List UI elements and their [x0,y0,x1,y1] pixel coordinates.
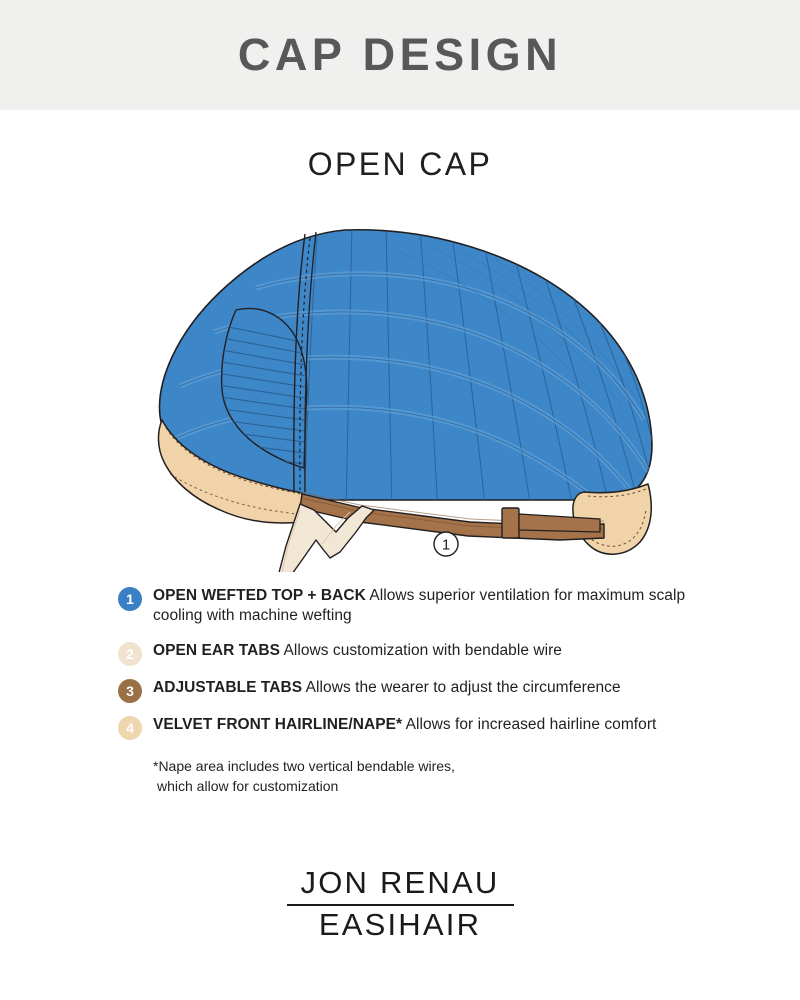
legend-badge-2: 2 [118,642,142,666]
legend-text-2: OPEN EAR TABS Allows customization with … [153,641,562,661]
legend-body-3: Allows the wearer to adjust the circumfe… [302,679,620,696]
legend-text-4: VELVET FRONT HAIRLINE/NAPE* Allows for i… [153,715,656,735]
legend-text-1: OPEN WEFTED TOP + BACK Allows superior v… [153,586,738,627]
legend-item-3: 3 ADJUSTABLE TABS Allows the wearer to a… [118,678,738,703]
diagram-subtitle: OPEN CAP [308,146,493,182]
page-header-band: CAP DESIGN [0,0,800,110]
legend-badge-1: 1 [118,587,142,611]
brand-name-secondary: EASIHAIR [0,908,800,943]
brand-divider-rule [287,904,514,906]
cap-illustration-svg: 1 1 4 2 3 4 [0,192,800,572]
legend-item-2: 2 OPEN EAR TABS Allows customization wit… [118,641,738,666]
legend-lead-4: VELVET FRONT HAIRLINE/NAPE* [153,716,402,733]
legend-lead-2: OPEN EAR TABS [153,642,280,659]
callout-open-wefted-top: 1 [434,532,458,556]
diagram-subtitle-container: OPEN CAP [0,148,800,180]
page-title: CAP DESIGN [238,32,562,79]
legend-lead-3: ADJUSTABLE TABS [153,679,302,696]
legend-badge-4: 4 [118,716,142,740]
strap-slider-buckle [502,508,519,538]
cap-diagram: 1 1 4 2 3 4 [0,192,800,572]
legend-list: 1 OPEN WEFTED TOP + BACK Allows superior… [118,572,738,797]
legend-body-4: Allows for increased hairline comfort [402,716,656,733]
brand-name-primary: JON RENAU [0,866,800,901]
brand-logo: JON RENAU EASIHAIR [0,866,800,942]
legend-text-3: ADJUSTABLE TABS Allows the wearer to adj… [153,678,621,698]
legend-lead-1: OPEN WEFTED TOP + BACK [153,587,366,604]
legend-badge-3: 3 [118,679,142,703]
legend-body-2: Allows customization with bendable wire [280,642,562,659]
footnote-line-2: which allow for customization [153,776,338,796]
legend-footnote: *Nape area includes two vertical bendabl… [153,756,738,797]
footnote-line-1: *Nape area includes two vertical bendabl… [153,756,738,776]
legend-item-4: 4 VELVET FRONT HAIRLINE/NAPE* Allows for… [118,715,738,740]
svg-text:1: 1 [442,537,450,554]
legend-item-1: 1 OPEN WEFTED TOP + BACK Allows superior… [118,586,738,627]
